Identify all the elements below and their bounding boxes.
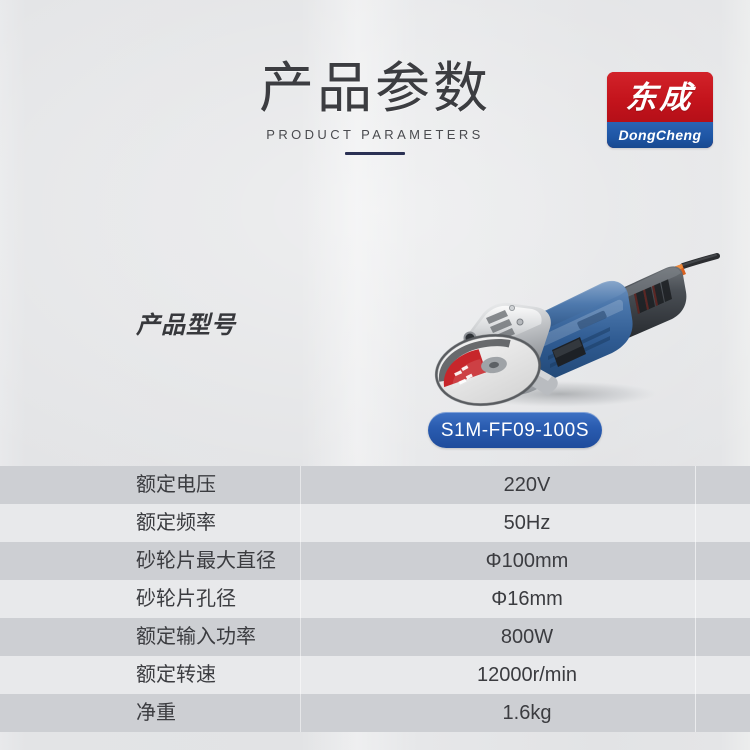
table-row: 额定电压 220V: [0, 466, 750, 504]
table-row: 额定频率 50Hz: [0, 504, 750, 542]
spec-label: 净重: [136, 701, 176, 725]
spec-value: 12000r/min: [390, 663, 664, 687]
spec-label: 额定电压: [136, 473, 216, 497]
table-row: 砂轮片最大直径 Φ100mm: [0, 542, 750, 580]
table-row: 额定输入功率 800W: [0, 618, 750, 656]
product-image-angle-grinder: [420, 222, 720, 412]
table-row: 砂轮片孔径 Φ16mm: [0, 580, 750, 618]
product-model-badge: S1M-FF09-100S: [428, 412, 602, 448]
spec-value: 220V: [390, 473, 664, 497]
spec-label: 砂轮片最大直径: [136, 549, 276, 573]
brand-logo-bottom: DongCheng: [607, 122, 713, 148]
spec-value: Φ100mm: [390, 549, 664, 573]
spec-label: 额定频率: [136, 511, 216, 535]
brand-logo-top: 东成: [607, 72, 713, 122]
product-model-label: 产品型号: [136, 310, 236, 342]
product-model-number: S1M-FF09-100S: [441, 421, 589, 440]
brand-logo: 东成 DongCheng: [607, 72, 713, 148]
product-parameters-page: 产品参数 PRODUCT PARAMETERS 东成 DongCheng 产品型…: [0, 0, 750, 750]
spec-value: 800W: [390, 625, 664, 649]
table-row: 净重 1.6kg: [0, 694, 750, 732]
spec-value: Φ16mm: [390, 587, 664, 611]
spec-label: 额定输入功率: [136, 625, 256, 649]
title-underline-rule: [345, 152, 405, 155]
spec-label: 砂轮片孔径: [136, 587, 236, 611]
brand-name-cn: 东成: [625, 82, 695, 113]
specification-table: 额定电压 220V 额定频率 50Hz 砂轮片最大直径 Φ100mm 砂轮片孔径…: [0, 466, 750, 732]
brand-name-en: DongCheng: [619, 128, 702, 142]
spec-value: 50Hz: [390, 511, 664, 535]
spec-value: 1.6kg: [390, 701, 664, 725]
table-row: 额定转速 12000r/min: [0, 656, 750, 694]
spec-label: 额定转速: [136, 663, 216, 687]
